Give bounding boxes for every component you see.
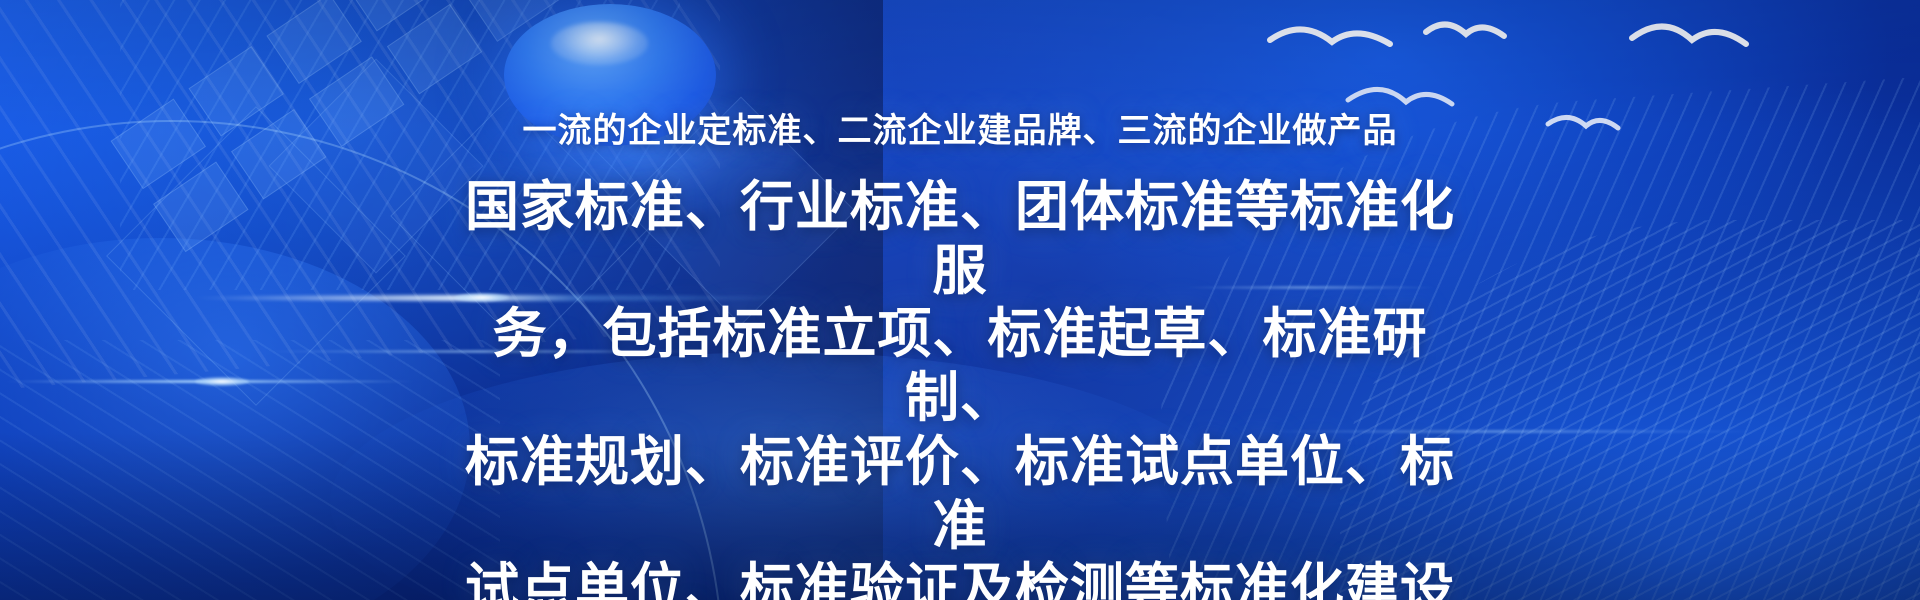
- banner-text-block: 一流的企业定标准、二流企业建品牌、三流的企业做产品 国家标准、行业标准、团体标准…: [0, 0, 1920, 600]
- headline-line-1: 国家标准、行业标准、团体标准等标准化服: [445, 176, 1475, 303]
- headline-line-4: 试点单位、标准验证及检测等标准化建设: [445, 558, 1475, 600]
- banner-subtitle: 一流的企业定标准、二流企业建品牌、三流的企业做产品: [0, 114, 1920, 148]
- promotional-banner: 一流的企业定标准、二流企业建品牌、三流的企业做产品 国家标准、行业标准、团体标准…: [0, 0, 1920, 600]
- banner-headline: 国家标准、行业标准、团体标准等标准化服 务，包括标准立项、标准起草、标准研制、 …: [445, 176, 1475, 600]
- headline-line-3: 标准规划、标准评价、标准试点单位、标准: [445, 431, 1475, 558]
- headline-line-2: 务，包括标准立项、标准起草、标准研制、: [445, 303, 1475, 430]
